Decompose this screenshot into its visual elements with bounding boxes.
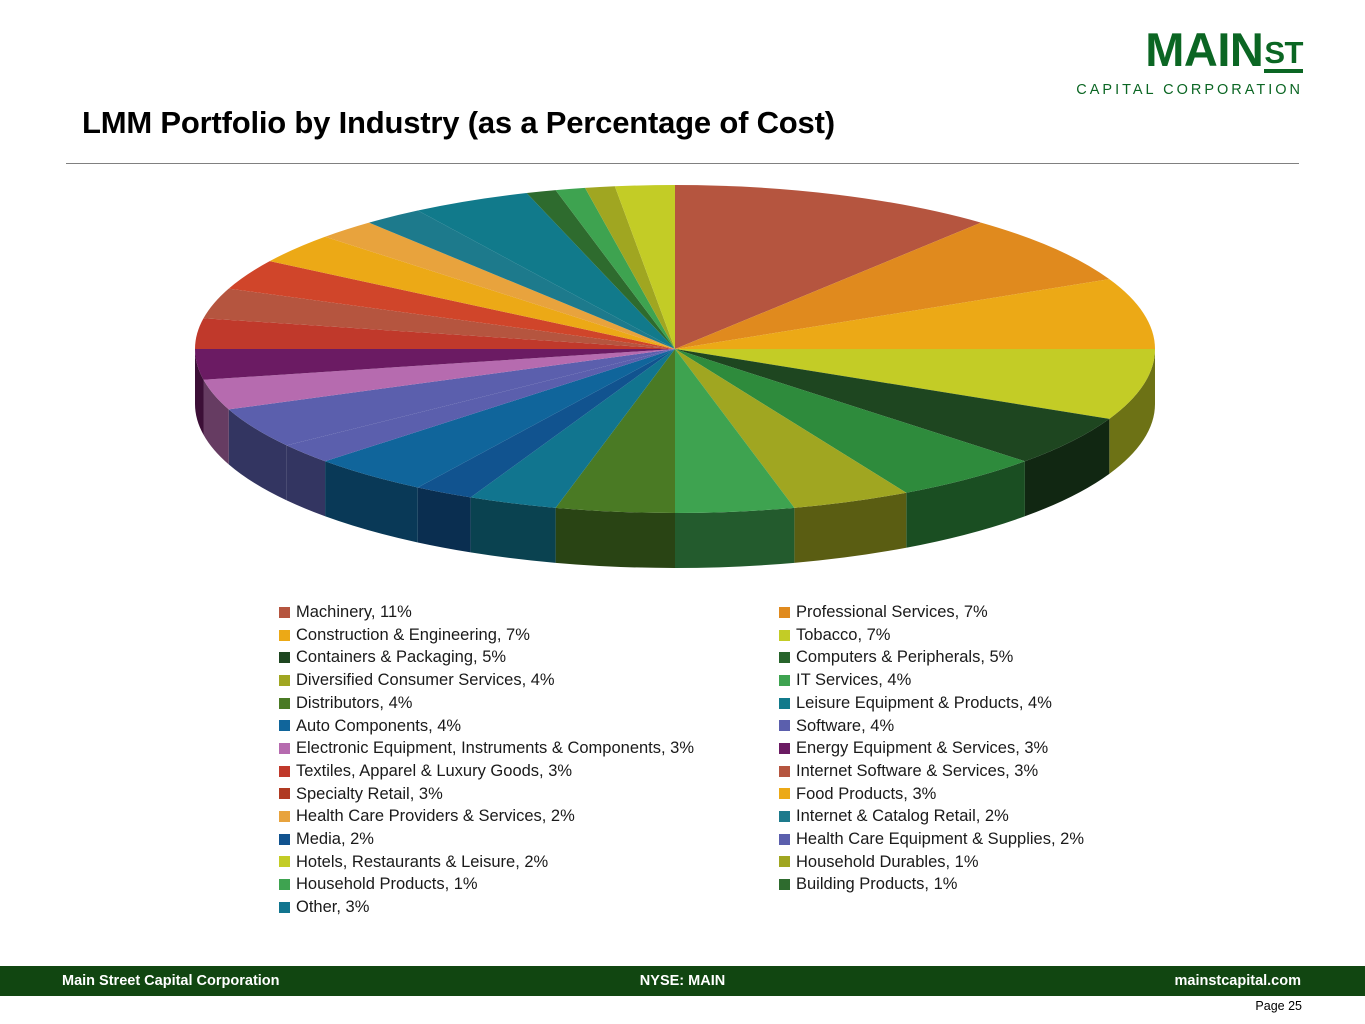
legend-swatch-icon [279, 698, 290, 709]
legend-swatch-icon [279, 720, 290, 731]
legend-swatch-icon [779, 834, 790, 845]
legend-swatch-icon [279, 652, 290, 663]
legend-item[interactable]: Computers & Peripherals, 5% [779, 646, 1239, 669]
pie-slice-side [418, 487, 471, 552]
legend-item[interactable]: Software, 4% [779, 714, 1239, 737]
legend-item[interactable]: Other, 3% [279, 896, 779, 919]
legend-item-label: Media, 2% [296, 831, 374, 848]
legend-swatch-icon [779, 743, 790, 754]
legend-item-label: Internet Software & Services, 3% [796, 763, 1038, 780]
legend-swatch-icon [779, 811, 790, 822]
logo-subtitle: CAPITAL CORPORATION [1076, 83, 1303, 98]
footer-website: mainstcapital.com [1174, 973, 1301, 989]
legend-item[interactable]: Leisure Equipment & Products, 4% [779, 692, 1239, 715]
legend-item[interactable]: Health Care Providers & Services, 2% [279, 805, 779, 828]
legend-item[interactable]: Household Products, 1% [279, 873, 779, 896]
legend-item[interactable]: Distributors, 4% [279, 692, 779, 715]
legend-swatch-icon [279, 675, 290, 686]
legend-item-label: Leisure Equipment & Products, 4% [796, 695, 1052, 712]
legend-swatch-icon [279, 879, 290, 890]
legend-item[interactable]: Specialty Retail, 3% [279, 783, 779, 806]
legend-item[interactable]: Hotels, Restaurants & Leisure, 2% [279, 851, 779, 874]
legend-item[interactable]: Internet & Catalog Retail, 2% [779, 805, 1239, 828]
pie-slice-side [675, 508, 794, 568]
pie-chart [0, 170, 1365, 590]
legend-column-left: Machinery, 11%Construction & Engineering… [279, 601, 779, 919]
legend-swatch-icon [779, 652, 790, 663]
logo-main-text: MAIN [1145, 23, 1263, 76]
legend-item-label: Containers & Packaging, 5% [296, 649, 506, 666]
legend-item-label: Tobacco, 7% [796, 627, 890, 644]
pie-slice-side [556, 508, 675, 568]
legend-item-label: Electronic Equipment, Instruments & Comp… [296, 740, 694, 757]
footer-bar: Main Street Capital Corporation NYSE: MA… [0, 966, 1365, 996]
legend-item-label: Food Products, 3% [796, 786, 936, 803]
title-divider [66, 163, 1299, 164]
company-logo: MAINST CAPITAL CORPORATION [1076, 26, 1303, 98]
pie-slice-side [471, 497, 556, 562]
legend-item-label: Household Products, 1% [296, 876, 478, 893]
pie-chart-svg [0, 170, 1365, 590]
legend-swatch-icon [779, 766, 790, 777]
legend-item-label: Computers & Peripherals, 5% [796, 649, 1013, 666]
legend-swatch-icon [779, 630, 790, 641]
legend-item-label: Specialty Retail, 3% [296, 786, 443, 803]
legend-item[interactable]: Energy Equipment & Services, 3% [779, 737, 1239, 760]
slide-canvas: MAINST CAPITAL CORPORATION LMM Portfolio… [0, 0, 1365, 1024]
legend-item-label: Distributors, 4% [296, 695, 412, 712]
legend-item-label: Energy Equipment & Services, 3% [796, 740, 1048, 757]
legend-item[interactable]: IT Services, 4% [779, 669, 1239, 692]
legend-item-label: Auto Components, 4% [296, 718, 461, 735]
legend-item[interactable]: Machinery, 11% [279, 601, 779, 624]
legend-item[interactable]: Construction & Engineering, 7% [279, 624, 779, 647]
legend-item[interactable]: Building Products, 1% [779, 873, 1239, 896]
pie-top-surface [195, 185, 1155, 513]
logo-st-text: ST [1264, 37, 1303, 73]
legend-item[interactable]: Food Products, 3% [779, 783, 1239, 806]
legend-item-label: Household Durables, 1% [796, 854, 979, 871]
legend-item-label: Hotels, Restaurants & Leisure, 2% [296, 854, 548, 871]
legend-item-label: Diversified Consumer Services, 4% [296, 672, 555, 689]
legend-swatch-icon [279, 766, 290, 777]
legend-item[interactable]: Professional Services, 7% [779, 601, 1239, 624]
legend-item-label: Building Products, 1% [796, 876, 957, 893]
legend-item[interactable]: Containers & Packaging, 5% [279, 646, 779, 669]
legend-column-right: Professional Services, 7%Tobacco, 7%Comp… [779, 601, 1239, 896]
legend-item-label: Machinery, 11% [296, 604, 412, 621]
legend-item[interactable]: Health Care Equipment & Supplies, 2% [779, 828, 1239, 851]
legend-swatch-icon [279, 788, 290, 799]
legend-item-label: Other, 3% [296, 899, 369, 916]
legend-item[interactable]: Media, 2% [279, 828, 779, 851]
legend-item-label: Health Care Providers & Services, 2% [296, 808, 575, 825]
legend-swatch-icon [279, 902, 290, 913]
logo-wordmark: MAINST [1076, 26, 1303, 76]
legend-item[interactable]: Textiles, Apparel & Luxury Goods, 3% [279, 760, 779, 783]
legend-item-label: IT Services, 4% [796, 672, 911, 689]
legend-item[interactable]: Diversified Consumer Services, 4% [279, 669, 779, 692]
legend-swatch-icon [279, 834, 290, 845]
legend-item[interactable]: Auto Components, 4% [279, 714, 779, 737]
legend-item-label: Health Care Equipment & Supplies, 2% [796, 831, 1084, 848]
legend-swatch-icon [279, 743, 290, 754]
legend-item[interactable]: Electronic Equipment, Instruments & Comp… [279, 737, 779, 760]
footer-ticker: NYSE: MAIN [0, 973, 1365, 989]
legend-swatch-icon [279, 630, 290, 641]
legend-swatch-icon [279, 856, 290, 867]
legend-swatch-icon [279, 811, 290, 822]
legend-swatch-icon [779, 856, 790, 867]
legend-item[interactable]: Internet Software & Services, 3% [779, 760, 1239, 783]
legend-swatch-icon [779, 675, 790, 686]
legend-item-label: Professional Services, 7% [796, 604, 988, 621]
page-number: Page 25 [1255, 999, 1302, 1013]
legend-item[interactable]: Tobacco, 7% [779, 624, 1239, 647]
legend-item-label: Internet & Catalog Retail, 2% [796, 808, 1009, 825]
legend-item[interactable]: Household Durables, 1% [779, 851, 1239, 874]
chart-legend: Machinery, 11%Construction & Engineering… [279, 601, 1279, 919]
legend-swatch-icon [779, 788, 790, 799]
legend-swatch-icon [779, 607, 790, 618]
legend-item-label: Construction & Engineering, 7% [296, 627, 530, 644]
legend-swatch-icon [779, 720, 790, 731]
legend-swatch-icon [779, 698, 790, 709]
legend-swatch-icon [779, 879, 790, 890]
legend-swatch-icon [279, 607, 290, 618]
legend-item-label: Textiles, Apparel & Luxury Goods, 3% [296, 763, 572, 780]
page-title: LMM Portfolio by Industry (as a Percenta… [82, 105, 835, 141]
legend-item-label: Software, 4% [796, 718, 894, 735]
